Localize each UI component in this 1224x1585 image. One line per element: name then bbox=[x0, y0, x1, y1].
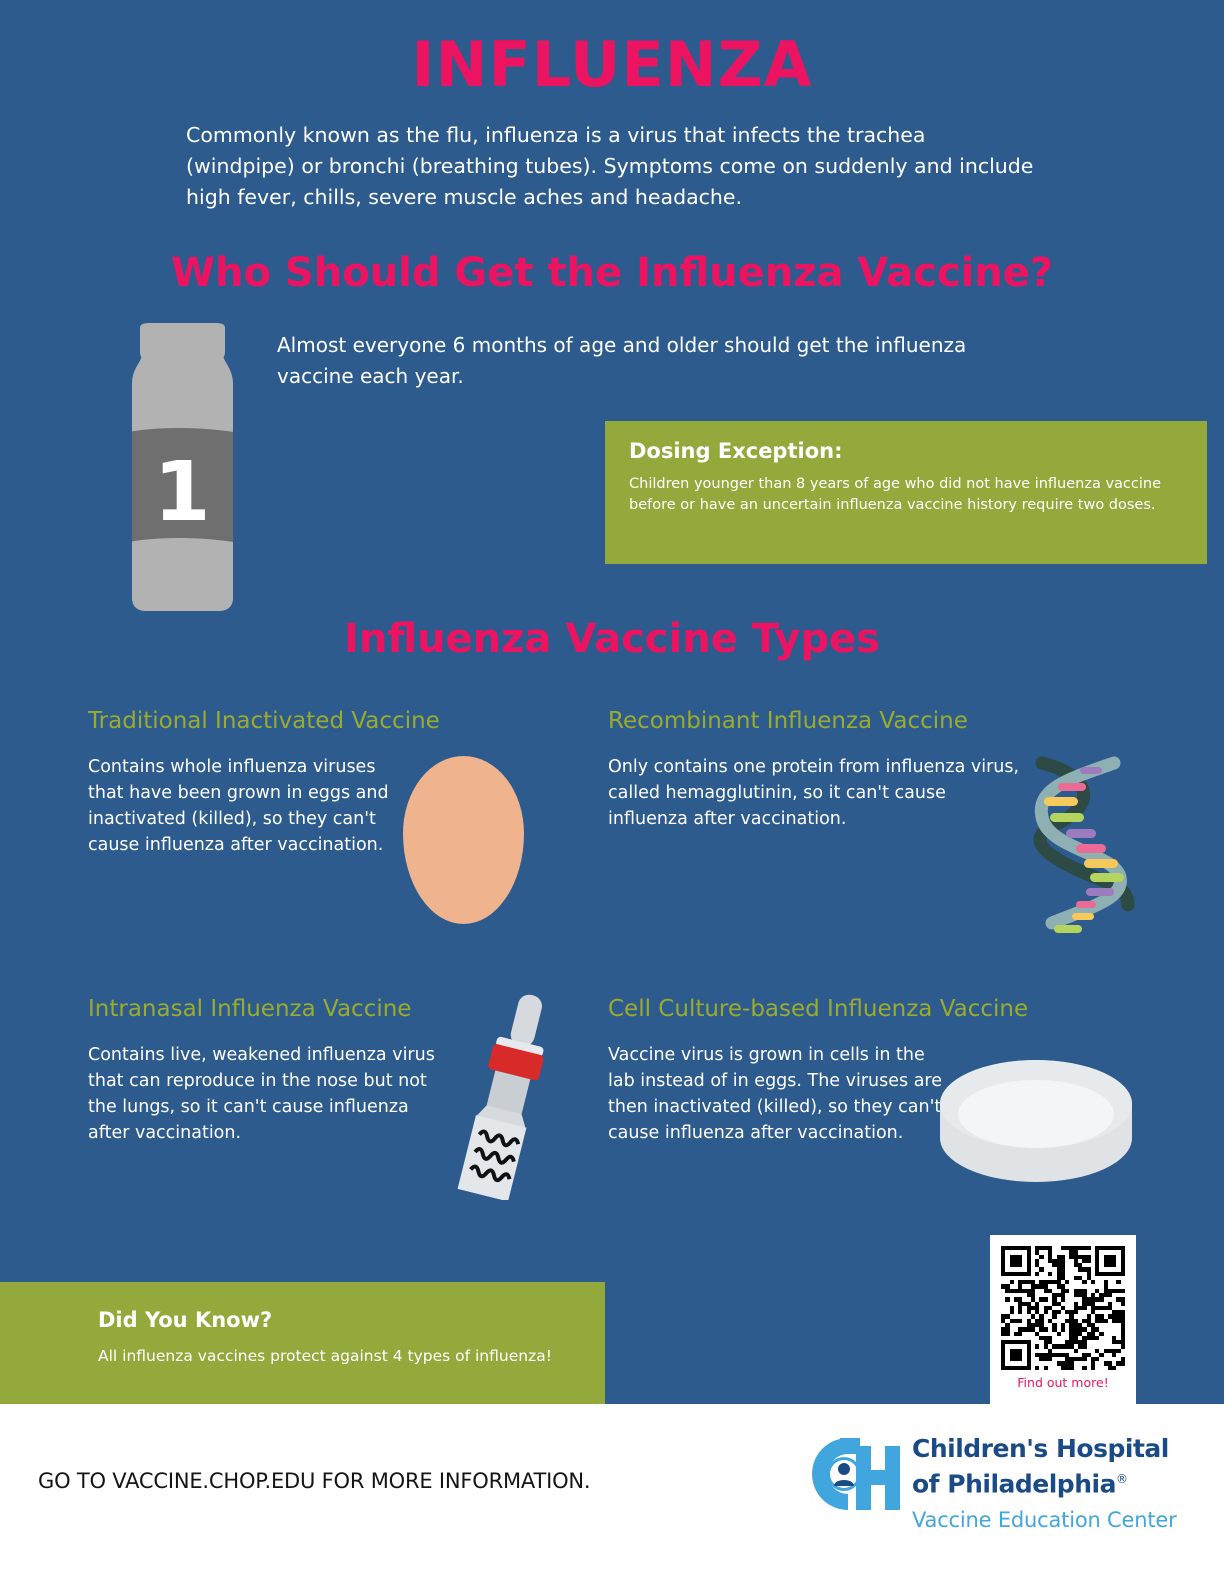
chop-logo-line2: of Philadelphia bbox=[912, 1469, 1116, 1498]
infographic-poster: INFLUENZA Commonly known as the flu, inf… bbox=[0, 0, 1224, 1585]
footer-bar: GO TO VACCINE.CHOP.EDU FOR MORE INFORMAT… bbox=[0, 1404, 1224, 1585]
dosing-exception-text: Children younger than 8 years of age who… bbox=[629, 474, 1183, 516]
nasal-spray-icon bbox=[440, 988, 575, 1200]
petri-dish-icon bbox=[938, 1058, 1134, 1188]
chop-logo-line1: Children's Hospital bbox=[912, 1434, 1169, 1463]
vaccine-type-card-intranasal: Intranasal Influenza Vaccine Contains li… bbox=[88, 996, 448, 1146]
did-you-know-text: All influenza vaccines protect against 4… bbox=[98, 1346, 605, 1366]
dosing-exception-title: Dosing Exception: bbox=[629, 439, 1183, 463]
page-title: INFLUENZA bbox=[0, 28, 1224, 101]
card-title-traditional: Traditional Inactivated Vaccine bbox=[88, 708, 398, 734]
footer-note: GO TO VACCINE.CHOP.EDU FOR MORE INFORMAT… bbox=[38, 1469, 590, 1493]
card-body-recombinant: Only contains one protein from influenza… bbox=[608, 754, 1028, 832]
intro-paragraph: Commonly known as the flu, influenza is … bbox=[186, 120, 1036, 213]
who-should-get-body: Almost everyone 6 months of age and olde… bbox=[277, 330, 977, 392]
vaccine-type-card-recombinant: Recombinant Influenza Vaccine Only conta… bbox=[608, 708, 1028, 832]
registered-mark-icon: ® bbox=[1116, 1472, 1128, 1486]
qr-code-card[interactable]: Find out more! bbox=[990, 1235, 1136, 1405]
chop-logo-svg bbox=[800, 1432, 900, 1518]
card-body-intranasal: Contains live, weakened influenza virus … bbox=[88, 1042, 448, 1146]
chop-logo-subtitle: Vaccine Education Center bbox=[912, 1508, 1177, 1532]
dosing-exception-box: Dosing Exception: Children younger than … bbox=[605, 421, 1207, 564]
card-title-intranasal: Intranasal Influenza Vaccine bbox=[88, 996, 448, 1022]
vaccine-type-card-cell-culture: Cell Culture-based Influenza Vaccine Vac… bbox=[608, 996, 948, 1146]
vaccine-types-heading: Influenza Vaccine Types bbox=[0, 616, 1224, 662]
vaccine-vial-svg: 1 bbox=[110, 322, 255, 617]
vaccine-type-card-traditional: Traditional Inactivated Vaccine Contains… bbox=[88, 708, 398, 858]
petri-dish-svg bbox=[938, 1058, 1134, 1188]
who-should-get-heading: Who Should Get the Influenza Vaccine? bbox=[0, 250, 1224, 296]
vial-dose-number: 1 bbox=[153, 445, 210, 540]
nasal-spray-svg bbox=[440, 988, 575, 1200]
chop-logo: Children's Hospital of Philadelphia® Vac… bbox=[800, 1426, 1200, 1556]
chop-logo-mark-icon bbox=[800, 1432, 900, 1518]
qr-code-image bbox=[1001, 1246, 1125, 1370]
did-you-know-title: Did You Know? bbox=[98, 1308, 605, 1332]
chop-logo-wordmark: Children's Hospital of Philadelphia® bbox=[912, 1434, 1169, 1499]
card-title-cell-culture: Cell Culture-based Influenza Vaccine bbox=[608, 996, 948, 1022]
vaccine-vial-icon: 1 bbox=[110, 322, 255, 617]
dna-helix-icon bbox=[1028, 745, 1138, 935]
dna-helix-svg bbox=[1028, 745, 1138, 935]
qr-code-caption: Find out more! bbox=[1001, 1375, 1125, 1390]
did-you-know-panel: Did You Know? All influenza vaccines pro… bbox=[0, 1282, 605, 1404]
card-title-recombinant: Recombinant Influenza Vaccine bbox=[608, 708, 1028, 734]
card-body-cell-culture: Vaccine virus is grown in cells in the l… bbox=[608, 1042, 948, 1146]
card-body-traditional: Contains whole influenza viruses that ha… bbox=[88, 754, 398, 858]
